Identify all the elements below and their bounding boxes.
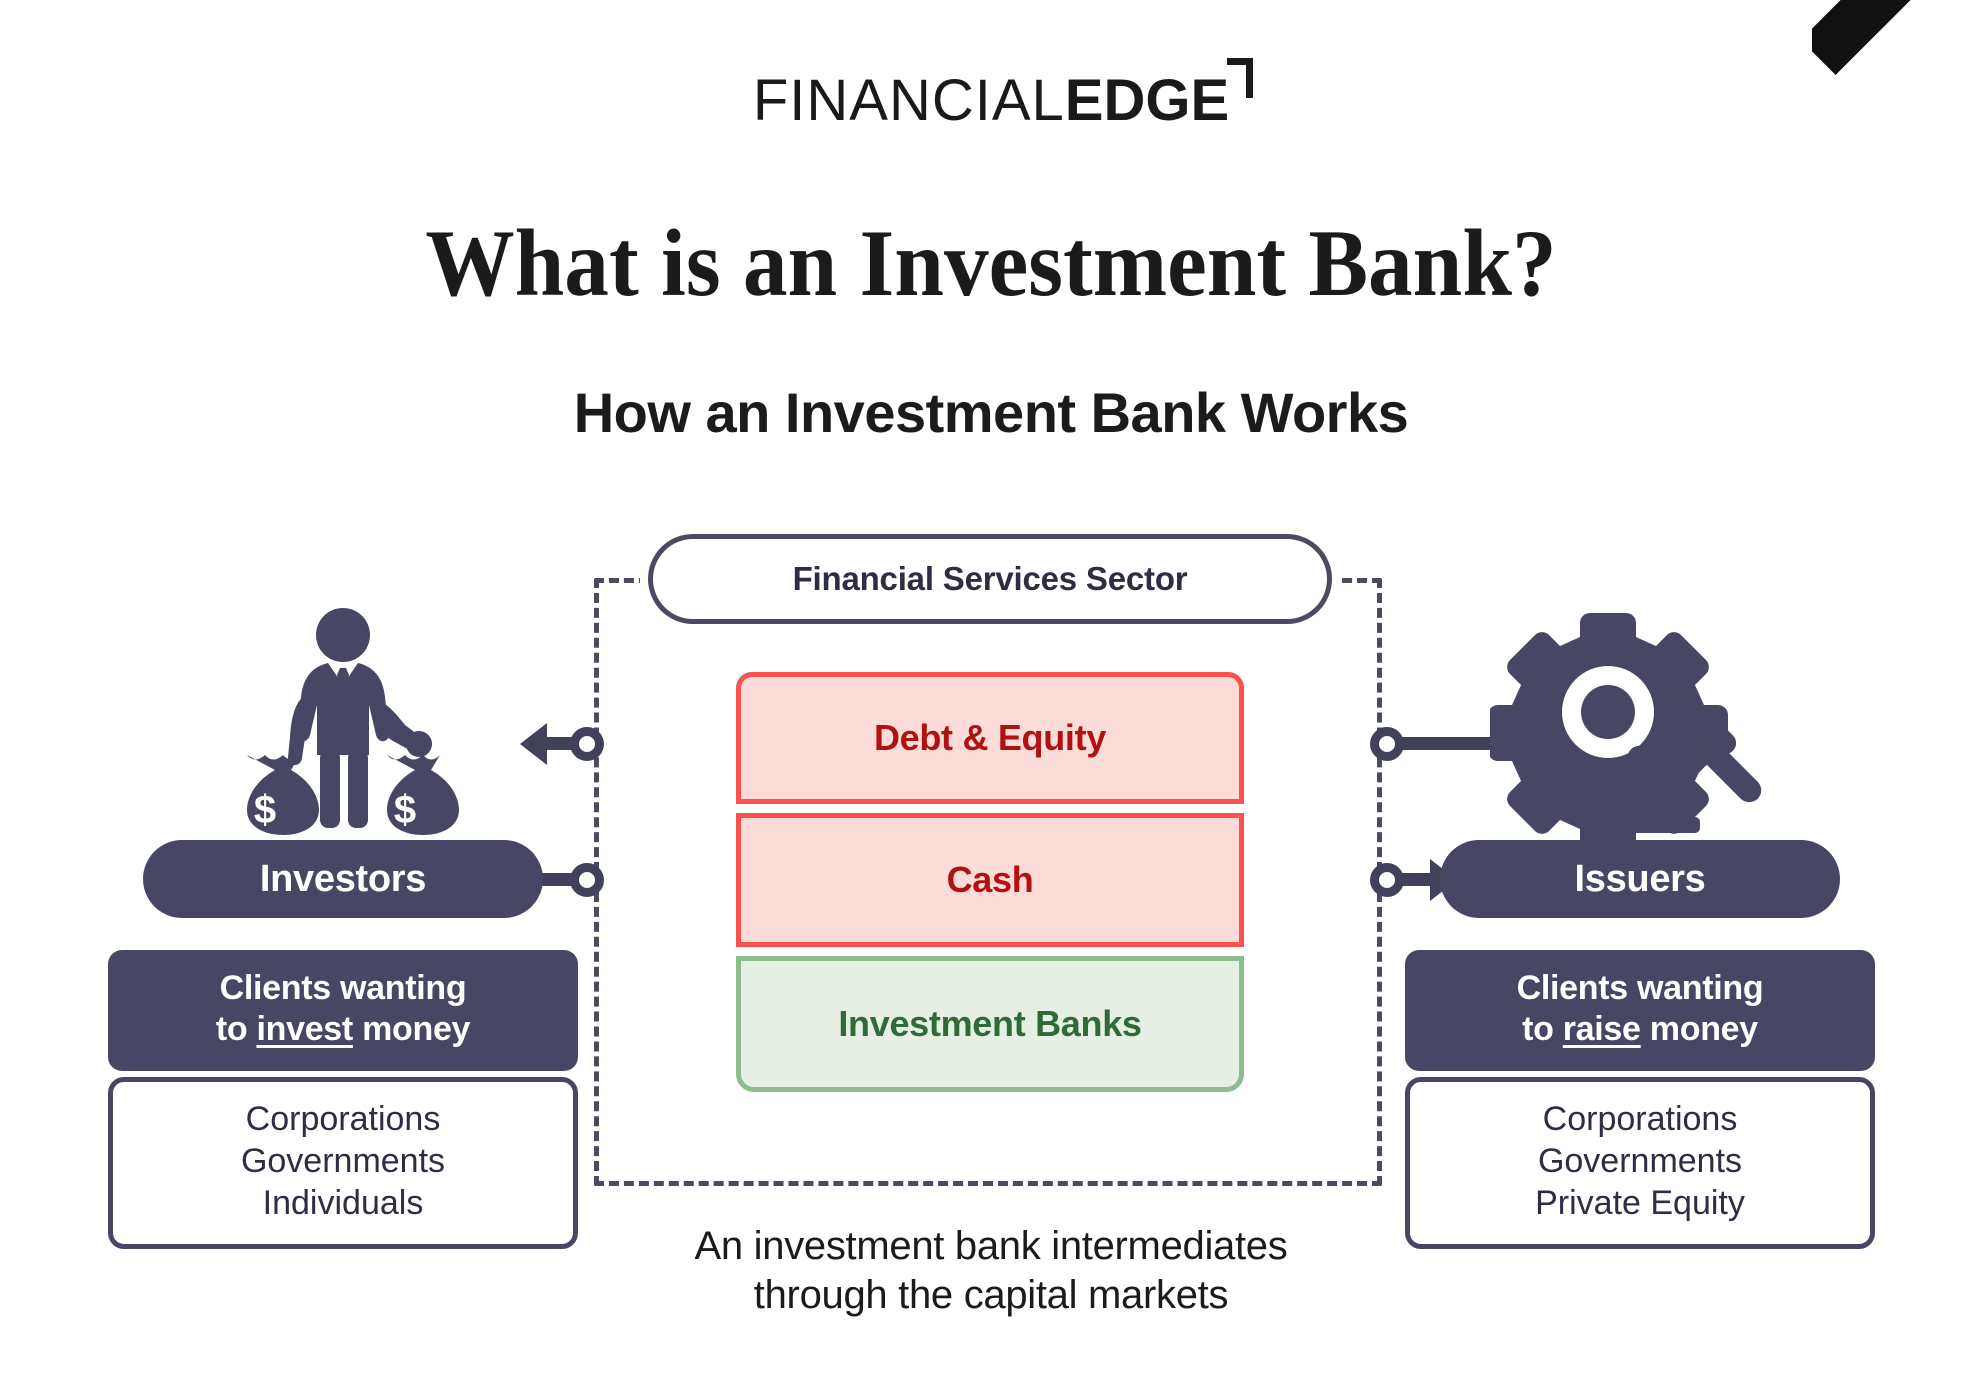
- gear-with-gavel-icon: [1490, 605, 1790, 840]
- capital-flow-stack: Debt & Equity Cash Investment Banks: [736, 672, 1244, 1092]
- list-item: Governments: [1420, 1140, 1860, 1182]
- investors-icon-area: $ $: [108, 600, 578, 840]
- list-item: Individuals: [123, 1182, 563, 1224]
- investors-column: $ $ Investors Clients wanting to invest …: [108, 600, 578, 1249]
- caption-line-2: through the capital markets: [0, 1271, 1982, 1320]
- investors-clients-keyword: invest: [256, 1010, 352, 1048]
- issuers-clients-line2: to raise money: [1415, 1009, 1865, 1050]
- list-item: Corporations: [1420, 1098, 1860, 1140]
- logo-text-bold: EDGE: [1065, 68, 1229, 133]
- page-title: What is an Investment Bank?: [59, 208, 1922, 318]
- investors-clients-pre: to: [216, 1010, 257, 1048]
- brand-logo: FINANCIALEDGE: [0, 72, 1982, 130]
- logo-text-thin: FINANCIAL: [753, 68, 1065, 133]
- page-subtitle: How an Investment Bank Works: [0, 380, 1982, 445]
- investors-name-pill: Investors: [143, 840, 543, 918]
- flow-box-debt-equity: Debt & Equity: [736, 672, 1244, 804]
- investors-clients-line1: Clients wanting: [118, 968, 568, 1009]
- flow-box-cash: Cash: [736, 813, 1244, 947]
- issuers-icon-area: [1405, 600, 1875, 840]
- list-item: Private Equity: [1420, 1182, 1860, 1224]
- investors-clients-line2: to invest money: [118, 1009, 568, 1050]
- issuers-clients-keyword: raise: [1563, 1010, 1641, 1048]
- issuers-clients-line1: Clients wanting: [1415, 968, 1865, 1009]
- issuers-clients-post: money: [1641, 1010, 1758, 1048]
- issuers-clients-pre: to: [1522, 1010, 1563, 1048]
- investors-clients-post: money: [353, 1010, 470, 1048]
- caption-line-1: An investment bank intermediates: [0, 1222, 1982, 1271]
- investors-clients-box: Clients wanting to invest money: [108, 950, 578, 1071]
- svg-text:$: $: [254, 788, 276, 832]
- issuers-clients-box: Clients wanting to raise money: [1405, 950, 1875, 1071]
- flow-box-investment-banks: Investment Banks: [736, 956, 1244, 1092]
- list-item: Governments: [123, 1140, 563, 1182]
- businessman-with-money-bags-icon: $ $: [183, 605, 503, 840]
- list-item: Corporations: [123, 1098, 563, 1140]
- logo-bracket-icon: [1227, 58, 1253, 98]
- svg-text:$: $: [394, 788, 416, 832]
- diagram-caption: An investment bank intermediates through…: [0, 1222, 1982, 1320]
- financial-services-sector-pill: Financial Services Sector: [648, 534, 1332, 624]
- issuers-column: Issuers Clients wanting to raise money C…: [1405, 600, 1875, 1249]
- issuers-name-pill: Issuers: [1440, 840, 1840, 918]
